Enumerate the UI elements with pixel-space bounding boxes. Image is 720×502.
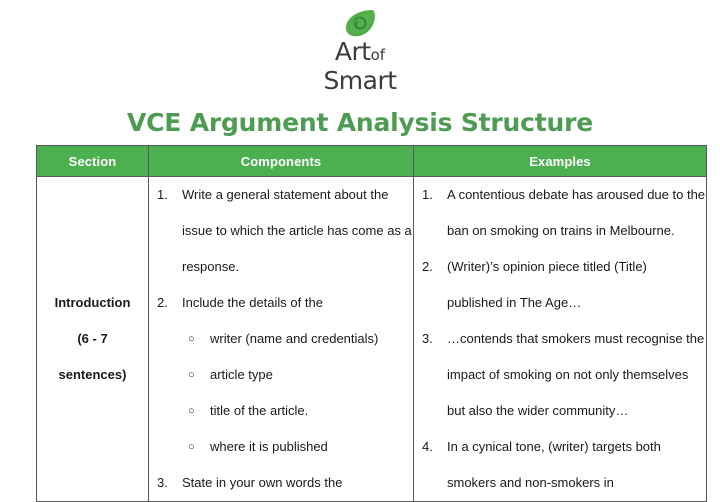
list-marker: 3. (157, 465, 179, 501)
section-label-line-2: (6 - 7 (43, 321, 142, 357)
logo-line-art-of: Artof (323, 39, 396, 68)
list-marker: 1. (422, 177, 444, 213)
list-item: ○ article type (182, 357, 413, 393)
column-header-examples: Examples (414, 146, 707, 177)
structure-table-wrapper: Section Components Examples Introduction… (36, 145, 706, 502)
page-title: VCE Argument Analysis Structure (0, 108, 720, 137)
list-item: 3. State in your own words the (149, 465, 413, 501)
list-item: ○ writer (name and credentials) (182, 321, 413, 357)
list-text: (Writer)’s opinion piece titled (Title) … (447, 259, 647, 310)
section-label-line-3: sentences) (43, 357, 142, 393)
components-list: 1. Write a general statement about the i… (149, 177, 413, 501)
section-label-line-1: Introduction (43, 285, 142, 321)
cell-components: 1. Write a general statement about the i… (149, 177, 414, 502)
list-marker: 2. (157, 285, 179, 321)
column-header-components: Components (149, 146, 414, 177)
cell-examples: 1. A contentious debate has aroused due … (414, 177, 707, 502)
brand-logo: Artof Smart (0, 0, 720, 94)
hollow-circle-bullet-icon: ○ (188, 393, 195, 429)
list-marker: 1. (157, 177, 179, 213)
logo-text-art: Art (335, 37, 371, 66)
list-item: ○ where it is published (182, 429, 413, 465)
hollow-circle-bullet-icon: ○ (188, 357, 195, 393)
examples-list: 1. A contentious debate has aroused due … (414, 177, 706, 501)
list-text: …contends that smokers must recognise th… (447, 331, 704, 418)
list-item: 2. Include the details of the ○ writer (… (149, 285, 413, 465)
list-text: A contentious debate has aroused due to … (447, 187, 705, 238)
hollow-circle-bullet-icon: ○ (188, 429, 195, 465)
argument-analysis-structure-table: Section Components Examples Introduction… (36, 145, 707, 502)
list-text: Write a general statement about the issu… (182, 187, 412, 274)
list-item: 1. Write a general statement about the i… (149, 177, 413, 285)
list-item: 4. In a cynical tone, (writer) targets b… (414, 429, 706, 501)
list-marker: 2. (422, 249, 444, 285)
list-text: In a cynical tone, (writer) targets both… (447, 439, 661, 490)
hollow-circle-bullet-icon: ○ (188, 321, 195, 357)
logo-text-smart: Smart (323, 68, 396, 94)
list-item: ○ title of the article. (182, 393, 413, 429)
list-marker: 3. (422, 321, 444, 357)
cell-section-introduction: Introduction (6 - 7 sentences) (37, 177, 149, 502)
list-text: title of the article. (210, 403, 308, 418)
list-marker: 4. (422, 429, 444, 465)
components-sub-list: ○ writer (name and credentials) ○ articl… (182, 321, 413, 465)
column-header-section: Section (37, 146, 149, 177)
table-row: Introduction (6 - 7 sentences) 1. Write … (37, 177, 707, 502)
list-text: Include the details of the (182, 295, 323, 310)
list-text: writer (name and credentials) (210, 331, 378, 346)
list-item: 2. (Writer)’s opinion piece titled (Titl… (414, 249, 706, 321)
logo-wordmark: Artof Smart (323, 39, 396, 94)
table-header-row: Section Components Examples (37, 146, 707, 177)
list-item: 3. …contends that smokers must recognise… (414, 321, 706, 429)
leaf-spiral-icon (340, 8, 380, 38)
list-text: State in your own words the (182, 475, 342, 490)
list-text: where it is published (210, 439, 328, 454)
list-item: 1. A contentious debate has aroused due … (414, 177, 706, 249)
logo-text-of: of (371, 46, 385, 64)
list-text: article type (210, 367, 273, 382)
